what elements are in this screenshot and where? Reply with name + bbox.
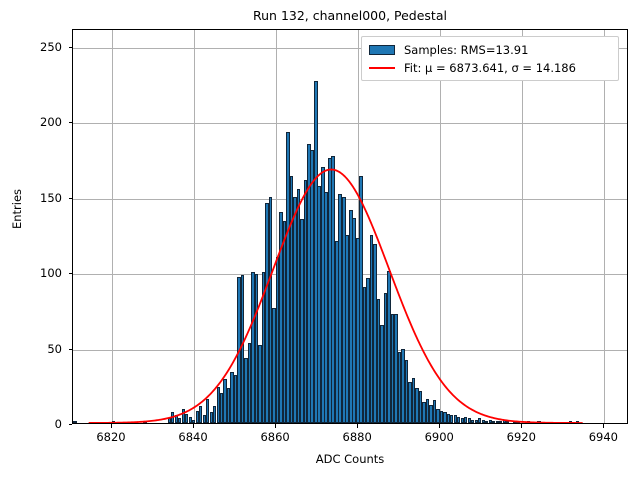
- legend-label-fit: Fit: μ = 6873.641, σ = 14.186: [404, 61, 576, 75]
- plot-area: [72, 29, 628, 424]
- x-tick-label: 6820: [81, 430, 141, 444]
- x-tick-label: 6840: [163, 430, 223, 444]
- y-tick-mark: [69, 47, 73, 48]
- y-axis-label: Entries: [10, 129, 24, 289]
- y-tick-label: 50: [16, 342, 62, 356]
- legend-item-fit: Fit: μ = 6873.641, σ = 14.186: [369, 59, 611, 77]
- x-tick-label: 6880: [327, 430, 387, 444]
- x-axis-label: ADC Counts: [72, 452, 628, 466]
- y-tick-label: 250: [16, 40, 62, 54]
- y-tick-label: 0: [16, 417, 62, 431]
- legend-line-icon: [369, 67, 395, 69]
- x-tick-mark: [357, 424, 358, 428]
- y-tick-mark: [69, 198, 73, 199]
- x-tick-mark: [521, 424, 522, 428]
- x-tick-mark: [111, 424, 112, 428]
- x-tick-label: 6860: [245, 430, 305, 444]
- y-tick-mark: [69, 273, 73, 274]
- y-tick-label: 200: [16, 115, 62, 129]
- y-tick-mark: [69, 349, 73, 350]
- x-tick-label: 6900: [409, 430, 469, 444]
- x-tick-label: 6940: [573, 430, 633, 444]
- y-tick-mark: [69, 122, 73, 123]
- y-tick-mark: [69, 424, 73, 425]
- x-tick-mark: [603, 424, 604, 428]
- legend-item-samples: Samples: RMS=13.91: [369, 41, 611, 59]
- x-tick-mark: [193, 424, 194, 428]
- x-tick-mark: [275, 424, 276, 428]
- legend-patch-icon: [369, 45, 395, 55]
- page-title: Run 132, channel000, Pedestal: [72, 8, 628, 24]
- legend-label-samples: Samples: RMS=13.91: [404, 43, 528, 57]
- gaussian-fit-curve: [73, 30, 627, 423]
- legend: Samples: RMS=13.91 Fit: μ = 6873.641, σ …: [361, 36, 619, 81]
- x-tick-label: 6920: [491, 430, 551, 444]
- figure-canvas: Run 132, channel000, Pedestal 6820684068…: [0, 0, 640, 480]
- x-tick-mark: [439, 424, 440, 428]
